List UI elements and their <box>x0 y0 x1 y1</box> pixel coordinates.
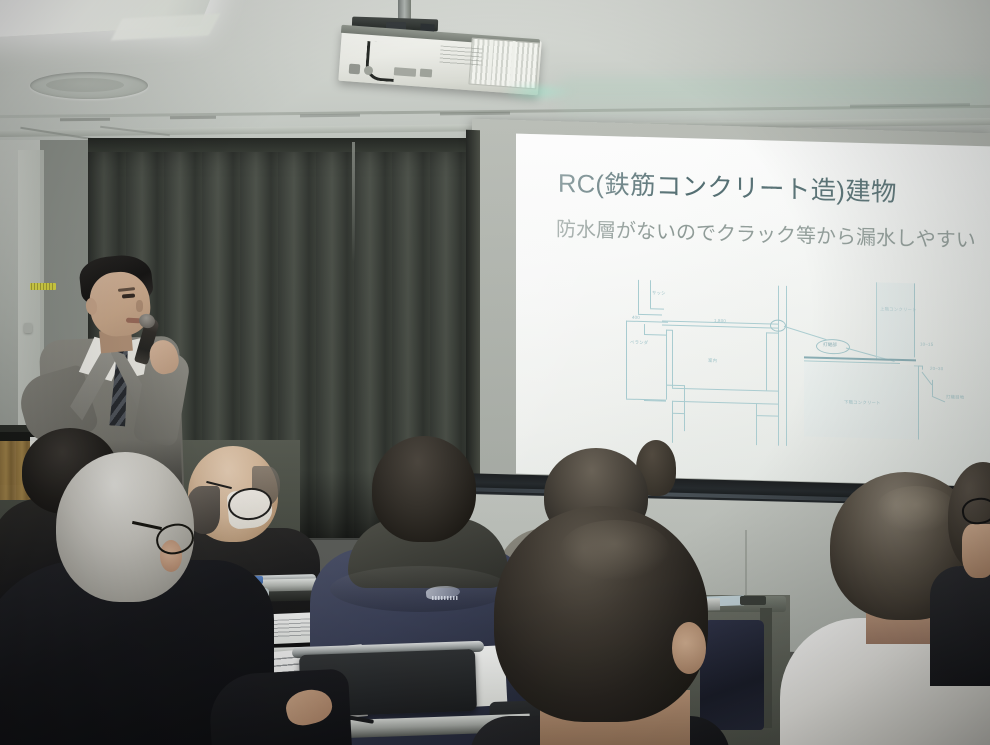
curtain-rail <box>88 138 508 152</box>
slide-title: RC(鉄筋コンクリート造)建物 <box>558 163 990 212</box>
projector-label <box>439 46 482 67</box>
audience-hoodie-head <box>372 436 476 542</box>
projector-lens-glow <box>500 82 574 102</box>
hoodie-logo-text <box>432 596 458 600</box>
audience-edge-face <box>962 524 990 578</box>
slide-subtitle: 防水層がないのでクラック等から漏水しやすい <box>556 213 990 254</box>
fig-dim-1: 10~15 <box>920 342 933 347</box>
audience-edge-body <box>930 566 990 686</box>
audience-grayhair-hairline <box>58 454 190 516</box>
fig-callout-joint: 打継部 <box>823 342 837 348</box>
audience-whiteshirt-hair-highlight <box>876 486 956 532</box>
fig-label-balcony: ベランダ <box>630 340 648 346</box>
audience-foreground-ear <box>672 622 706 674</box>
projector-connector <box>420 69 433 78</box>
back-desk-object <box>740 596 766 605</box>
slide-figure-concrete-joint: サッシ ベランダ 室内 1,800 400 <box>608 271 988 456</box>
ceiling-seam <box>60 118 110 122</box>
ceiling-green-tint <box>560 78 990 124</box>
curtain-gap-light <box>352 142 355 262</box>
seminar-room-photo: RC(鉄筋コンクリート造)建物 防水層がないのでクラック等から漏水しやすい サッ… <box>0 0 990 745</box>
slide-content: RC(鉄筋コンクリート造)建物 防水層がないのでクラック等から漏水しやすい サッ… <box>516 134 990 487</box>
projector-connector <box>349 64 361 75</box>
fig-label-room: 室内 <box>708 358 717 364</box>
ceiling-speaker-inner <box>46 78 124 92</box>
fig-leak-note: 打継目地 <box>946 394 964 400</box>
audience-foreground-hair-highlight <box>560 520 670 580</box>
fig-label-sash: サッシ <box>652 290 666 296</box>
ceiling-seam <box>170 116 216 120</box>
jacket-on-chair <box>700 620 764 730</box>
presenter-nose <box>136 300 143 312</box>
fig-label-lower-concrete: 下階コンクリート <box>844 399 881 406</box>
projector-connector <box>394 67 417 77</box>
audience-hoodie-shoulder-fold <box>330 566 510 612</box>
fig-dim-2: 20~30 <box>930 366 943 371</box>
projector-cable <box>365 41 397 82</box>
